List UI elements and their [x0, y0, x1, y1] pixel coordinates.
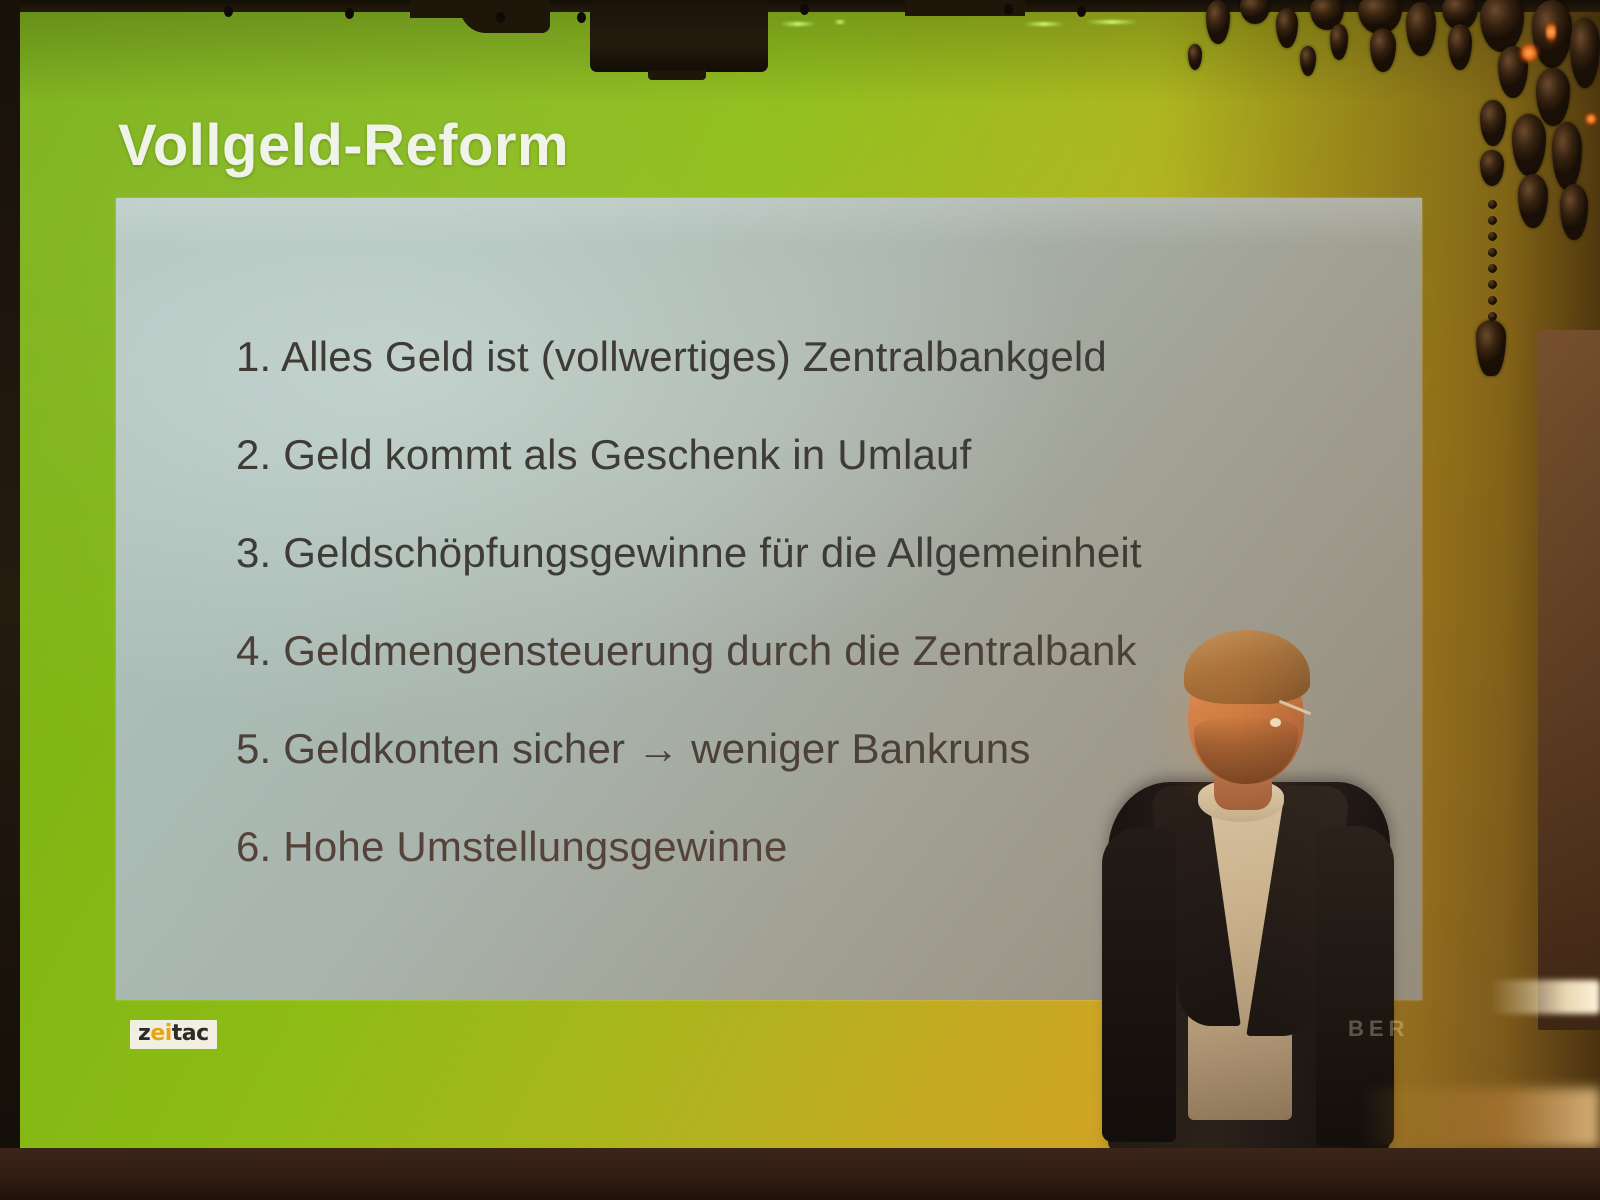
ceiling-fixture-dot [496, 12, 505, 23]
ceiling-fixture-dot [1077, 6, 1086, 17]
slide-logo-accent: ei [150, 1021, 171, 1046]
presenter [1080, 614, 1410, 1150]
presenter-beard [1194, 718, 1298, 784]
list-item: 2. Geld kommt als Geschenk in Umlauf [236, 434, 1296, 476]
stage-floor-glow [1360, 1088, 1600, 1148]
ceiling-light-streak [834, 20, 846, 24]
ceiling-fixture-dot [345, 8, 354, 19]
ceiling-light-streak [1086, 20, 1138, 24]
list-item: 3. Geldschöpfungsgewinne für die Allgeme… [236, 532, 1296, 574]
ceiling-light-streak [1024, 22, 1064, 26]
slide-logo: zeitac [130, 1020, 217, 1049]
slide-logo-suffix: tac [172, 1021, 209, 1046]
presentation-photo: Vollgeld-Reform 1. Alles Geld ist (vollw… [0, 0, 1600, 1200]
presenter-hair [1184, 630, 1310, 704]
ceiling-fixture-dot [577, 12, 586, 23]
slide-logo-prefix: z [138, 1021, 150, 1046]
list-item: 1. Alles Geld ist (vollwertiges) Zentral… [236, 336, 1296, 378]
presenter-arm-left [1102, 828, 1176, 1142]
ceiling-loudspeaker-mount [648, 70, 706, 80]
stage-wall-right [1538, 330, 1600, 1030]
ceiling-fixture-dot [800, 4, 809, 15]
ceiling-loudspeaker [590, 0, 768, 72]
wall-lettering: BER [1348, 1016, 1409, 1042]
ceiling-equipment-small [460, 0, 550, 33]
stage-floor-bar [0, 1148, 1600, 1200]
stage-light-highlight [1490, 980, 1600, 1014]
ceiling-fixture-dot [224, 6, 233, 17]
ceiling-fixture-dot [1004, 4, 1013, 15]
headset-microphone-icon [1270, 718, 1281, 727]
ceiling-light-streak [780, 22, 816, 26]
stage-wall-left [0, 0, 20, 1200]
slide-title: Vollgeld-Reform [118, 112, 569, 179]
